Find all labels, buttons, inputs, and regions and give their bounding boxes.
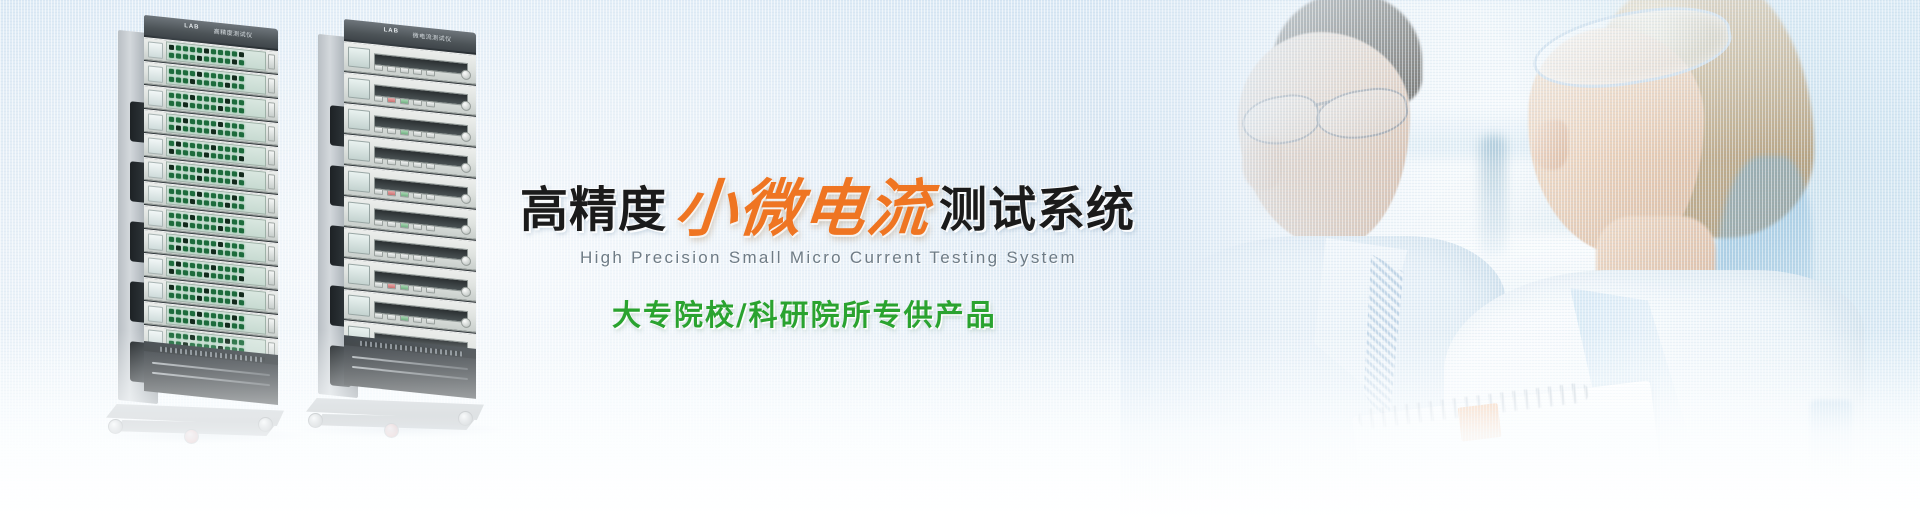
rack-1-channel-led bbox=[239, 108, 244, 114]
rack-2-unit-button bbox=[387, 159, 396, 166]
rack-1-channel-led bbox=[183, 222, 188, 228]
rack-1-channel-led bbox=[176, 173, 181, 179]
subtitle-english: High Precision Small Micro Current Testi… bbox=[580, 248, 1077, 268]
rack-1-unit-display bbox=[148, 41, 163, 59]
rack-1-channel-led bbox=[225, 267, 230, 273]
rack-2-unit-column bbox=[344, 39, 476, 349]
rack-1-channel-led bbox=[225, 99, 230, 105]
rack-1-channel-led bbox=[183, 102, 188, 108]
rack-1-channel-led bbox=[176, 214, 181, 220]
rack-1-channel-led bbox=[183, 174, 188, 180]
rack-1-channel-led bbox=[197, 199, 202, 205]
rack-1-channel-led bbox=[176, 70, 181, 76]
rack-2-unit-dial bbox=[461, 100, 471, 111]
rack-1-channel-led bbox=[211, 121, 216, 127]
rack-1-channel-led bbox=[183, 286, 188, 292]
rack-2-unit-button bbox=[413, 285, 422, 292]
rack-2-unit-button bbox=[387, 314, 396, 321]
rack-1-channel-led bbox=[204, 49, 209, 55]
rack-1-channel-led bbox=[232, 299, 237, 305]
rack-1-channel-led bbox=[204, 289, 209, 295]
rack-1-channel-led bbox=[197, 103, 202, 109]
rack-1-channel-led bbox=[239, 292, 244, 298]
rack-1-channel-led bbox=[204, 200, 209, 206]
rack-1-channel-led bbox=[197, 79, 202, 85]
rack-1-channel-led bbox=[176, 94, 181, 100]
rack-1-channel-led bbox=[190, 127, 195, 133]
rack-1-channel-led bbox=[204, 337, 209, 343]
rack-1-channel-led bbox=[204, 128, 209, 134]
rack-1-channel-led bbox=[169, 261, 174, 267]
rack-1-channel-led bbox=[197, 72, 202, 78]
rack-2-unit-button bbox=[374, 126, 383, 133]
rack-1-channel-led bbox=[211, 49, 216, 55]
rack-1-unit-knob bbox=[268, 150, 275, 166]
rack-2-unit-lcd bbox=[348, 201, 370, 223]
rack-2-unit-dial bbox=[461, 255, 471, 266]
rack-1-channel-led bbox=[204, 193, 209, 199]
rack-1-channel-led bbox=[176, 190, 181, 196]
rack-1-channel-led bbox=[204, 176, 209, 182]
rack-1-channel-led bbox=[197, 55, 202, 61]
rack-1-channel-led bbox=[218, 146, 223, 152]
rack-2-unit-lcd bbox=[348, 108, 370, 130]
rack-1-channel-led bbox=[169, 316, 174, 322]
rack-2-unit-button bbox=[387, 221, 396, 228]
rack-1-channel-led bbox=[218, 266, 223, 272]
rack-1-channel-led bbox=[225, 154, 230, 160]
rack-1-channel-led bbox=[169, 117, 174, 123]
rack-1-channel-led bbox=[183, 190, 188, 196]
rack-2-unit-button bbox=[387, 128, 396, 135]
rack-2-unit-dial bbox=[461, 69, 471, 80]
rack-1-channel-led bbox=[239, 276, 244, 282]
rack-1-channel-led bbox=[169, 285, 174, 291]
rack-1-channel-led bbox=[211, 249, 216, 255]
rack-1-channel-led bbox=[183, 318, 188, 324]
rack-1-channel-led bbox=[204, 56, 209, 62]
rack-1-channel-led bbox=[225, 106, 230, 112]
rack-1-channel-led bbox=[169, 45, 174, 51]
rack-1-channel-led bbox=[176, 101, 181, 107]
rack-1-channel-led bbox=[190, 247, 195, 253]
rack-1-unit-display bbox=[148, 137, 163, 155]
rack-1-channel-led bbox=[176, 245, 181, 251]
rack-1-channel-led bbox=[218, 242, 223, 248]
rack-1-channel-led bbox=[218, 177, 223, 183]
rack-1-channel-led bbox=[211, 169, 216, 175]
rack-1-channel-led bbox=[232, 291, 237, 297]
rack-2-unit-lcd bbox=[348, 170, 370, 192]
rack-1-channel-led bbox=[169, 189, 174, 195]
rack-1-channel-led bbox=[183, 126, 188, 132]
rack-1-channel-led bbox=[218, 74, 223, 80]
rack-2-unit-lcd bbox=[348, 139, 370, 161]
rack-1-channel-led bbox=[232, 275, 237, 281]
rack-2-brand: 微电流测试仪 bbox=[413, 30, 452, 43]
rack-1-unit-knob bbox=[268, 174, 275, 190]
rack-2-unit-button bbox=[374, 250, 383, 257]
rack-2-unit-button bbox=[400, 315, 409, 322]
rack-1-channel-led bbox=[190, 191, 195, 197]
rack-1-channel-led bbox=[218, 290, 223, 296]
rack-1-channel-led bbox=[225, 250, 230, 256]
rack-1-channel-led bbox=[211, 193, 216, 199]
rack-1-channel-led bbox=[211, 57, 216, 63]
rack-2-unit-button bbox=[426, 101, 435, 108]
rack-1-channel-led bbox=[225, 339, 230, 345]
rack-2-unit-button bbox=[374, 188, 383, 195]
rack-1-channel-led bbox=[232, 339, 237, 345]
rack-1-channel-led bbox=[239, 132, 244, 138]
rack-2-unit-dial bbox=[461, 162, 471, 173]
rack-2-unit-button bbox=[374, 157, 383, 164]
rack-2-unit-button bbox=[374, 281, 383, 288]
rack-1-channel-led bbox=[176, 53, 181, 59]
rack-1-channel-led bbox=[176, 334, 181, 340]
rack-1-channel-led bbox=[218, 170, 223, 176]
rack-1-channel-led bbox=[225, 202, 230, 208]
rack-1-channel-led bbox=[204, 217, 209, 223]
rack-1-channel-led bbox=[211, 145, 216, 151]
rack-1-channel-led bbox=[190, 239, 195, 245]
rack-2-unit-dial bbox=[461, 193, 471, 204]
rack-1-channel-led bbox=[232, 83, 237, 89]
rack-1-channel-led bbox=[197, 120, 202, 126]
rack-1-unit-knob bbox=[268, 318, 275, 334]
rack-1-unit-column bbox=[144, 35, 278, 355]
rack-1-channel-led bbox=[197, 151, 202, 157]
rack-1-channel-led bbox=[225, 130, 230, 136]
rack-1-channel-led bbox=[225, 82, 230, 88]
rack-1-unit-knob bbox=[268, 222, 275, 238]
rack-1-channel-led bbox=[232, 171, 237, 177]
rack-1-channel-led bbox=[239, 228, 244, 234]
rack-1-brand: 高精度测试仪 bbox=[214, 26, 253, 39]
rack-1-channel-led bbox=[225, 58, 230, 64]
rack-2-unit-lcd bbox=[348, 263, 370, 285]
rack-1-channel-led bbox=[197, 144, 202, 150]
rack-1-channel-led bbox=[204, 73, 209, 79]
rack-1-channel-led bbox=[211, 177, 216, 183]
rack-1-channel-led bbox=[239, 340, 244, 346]
rack-1-channel-led bbox=[204, 272, 209, 278]
rack-1-channel-led bbox=[183, 294, 188, 300]
rack-2-unit-button bbox=[387, 66, 396, 73]
rack-1-channel-led bbox=[239, 268, 244, 274]
rack-1-channel-led bbox=[225, 123, 230, 129]
rack-1-channel-led bbox=[211, 129, 216, 135]
rack-1-channel-led bbox=[239, 60, 244, 66]
multi-channel-current-test-rack: LAB 高精度测试仪 bbox=[118, 22, 278, 392]
rack-2-unit-lcd bbox=[348, 294, 370, 316]
rack-1-channel-led bbox=[239, 124, 244, 130]
rack-1-channel-led bbox=[232, 243, 237, 249]
rack-1-channel-led bbox=[190, 119, 195, 125]
rack-1-channel-led bbox=[190, 295, 195, 301]
rack-1-channel-led bbox=[239, 316, 244, 322]
rack-1-channel-led bbox=[197, 312, 202, 318]
rack-1-unit-knob bbox=[268, 270, 275, 286]
rack-1-channel-led bbox=[232, 51, 237, 57]
rack-1-channel-led bbox=[239, 100, 244, 106]
rack-1-channel-led bbox=[169, 69, 174, 75]
rack-1-channel-led bbox=[211, 289, 216, 295]
rack-1-channel-led bbox=[211, 241, 216, 247]
rack-1-channel-led bbox=[190, 223, 195, 229]
rack-1-channel-led bbox=[232, 315, 237, 321]
rack-1-channel-led bbox=[204, 265, 209, 271]
rack-1-channel-led bbox=[169, 52, 174, 58]
rack-1-channel-led bbox=[225, 219, 230, 225]
rack-1-unit-knob bbox=[268, 294, 275, 310]
rack-1-channel-led bbox=[183, 246, 188, 252]
rack-1-unit-knob bbox=[268, 102, 275, 118]
rack-2-unit-button bbox=[400, 284, 409, 291]
rack-2-unit-button bbox=[413, 130, 422, 137]
rack-1-channel-led bbox=[190, 103, 195, 109]
rack-1-channel-led bbox=[176, 286, 181, 292]
rack-1-channel-led bbox=[232, 59, 237, 65]
rack-1-channel-led bbox=[190, 287, 195, 293]
rack-1-channel-led bbox=[218, 129, 223, 135]
rack-1-channel-led bbox=[169, 309, 174, 315]
rack-1-channel-led bbox=[232, 179, 237, 185]
rack-1-unit-knob bbox=[268, 246, 275, 262]
rack-1-channel-led bbox=[239, 244, 244, 250]
rack-1-channel-led bbox=[204, 248, 209, 254]
rack-1-channel-led bbox=[176, 125, 181, 131]
rack-1-channel-led bbox=[190, 71, 195, 77]
rack-2-unit-dial bbox=[461, 317, 471, 328]
photo-grid-texture bbox=[1120, 0, 1920, 520]
headline: 高精度 小微电流 测试系统 bbox=[520, 170, 1140, 240]
rack-1-channel-led bbox=[204, 152, 209, 158]
rack-1-channel-led bbox=[204, 296, 209, 302]
rack-1-channel-led bbox=[197, 288, 202, 294]
rack-2-unit-button bbox=[413, 99, 422, 106]
rack-1-unit-display bbox=[148, 257, 163, 275]
rack-2-unit-button bbox=[426, 194, 435, 201]
rack-1-channel-led bbox=[232, 147, 237, 153]
rack-1-channel-led bbox=[190, 319, 195, 325]
rack-1-channel-led bbox=[232, 219, 237, 225]
lab-researchers-photo bbox=[1120, 0, 1920, 520]
rack-1-channel-led bbox=[176, 166, 181, 172]
rack-2-unit-lcd bbox=[348, 232, 370, 254]
rack-1-channel-led bbox=[218, 153, 223, 159]
rack-2-unit-button bbox=[426, 132, 435, 139]
rack-2-unit-button bbox=[387, 252, 396, 259]
rack-1-channel-led bbox=[190, 199, 195, 205]
rack-1-channel-led bbox=[190, 263, 195, 269]
rack-1-channel-led bbox=[225, 291, 230, 297]
rack-1-channel-led bbox=[211, 297, 216, 303]
rack-1-channel-led bbox=[232, 251, 237, 257]
rack-1-channel-led bbox=[239, 252, 244, 258]
rack-1-channel-led bbox=[197, 240, 202, 246]
rack-1-channel-led bbox=[190, 167, 195, 173]
rack-1-channel-led bbox=[218, 105, 223, 111]
rack-1-channel-led bbox=[183, 238, 188, 244]
rack-1-channel-led bbox=[197, 271, 202, 277]
rack-1-channel-led bbox=[225, 298, 230, 304]
rack-1-channel-led bbox=[176, 118, 181, 124]
rack-1-channel-led bbox=[204, 169, 209, 175]
rack-1-channel-led bbox=[169, 141, 174, 147]
instrument-module-rack: LAB 微电流测试仪 bbox=[318, 26, 476, 386]
rack-2-unit-dial bbox=[461, 224, 471, 235]
rack-1-channel-led bbox=[218, 201, 223, 207]
rack-1-channel-led bbox=[176, 142, 181, 148]
rack-2-unit-button bbox=[400, 67, 409, 74]
rack-1-channel-led bbox=[176, 238, 181, 244]
rack-1-channel-led bbox=[183, 54, 188, 60]
rack-1-channel-led bbox=[176, 46, 181, 52]
rack-2-floor-shadow bbox=[298, 422, 508, 438]
rack-2-unit-lcd bbox=[348, 77, 370, 99]
rack-1-channel-led bbox=[197, 168, 202, 174]
rack-2-unit-lcd bbox=[348, 46, 370, 68]
rack-1-channel-led bbox=[169, 172, 174, 178]
rack-1-channel-led bbox=[169, 93, 174, 99]
rack-2-unit-button bbox=[426, 287, 435, 294]
rack-1-channel-led bbox=[169, 292, 174, 298]
rack-2-unit-button bbox=[426, 163, 435, 170]
rack-1-channel-led bbox=[176, 197, 181, 203]
rack-1-channel-led bbox=[190, 95, 195, 101]
rack-1-channel-led bbox=[211, 201, 216, 207]
rack-1-channel-led bbox=[232, 267, 237, 273]
rack-1-channel-led bbox=[169, 76, 174, 82]
rack-1-unit-display bbox=[148, 65, 163, 83]
rack-1-unit-knob bbox=[268, 198, 275, 214]
rack-2-unit-button bbox=[426, 70, 435, 77]
rack-1-channel-led bbox=[239, 180, 244, 186]
rack-1-channel-led bbox=[197, 48, 202, 54]
rack-1-channel-led bbox=[183, 142, 188, 148]
rack-1-channel-led bbox=[176, 77, 181, 83]
rack-1-channel-led bbox=[176, 310, 181, 316]
rack-1-channel-led bbox=[183, 150, 188, 156]
rack-1-channel-led bbox=[218, 273, 223, 279]
rack-1-channel-led bbox=[183, 46, 188, 52]
rack-1-channel-led bbox=[225, 147, 230, 153]
rack-1-channel-led bbox=[225, 195, 230, 201]
rack-1-channel-led bbox=[239, 324, 244, 330]
rack-1-channel-led bbox=[232, 195, 237, 201]
rack-2-unit-button bbox=[413, 223, 422, 230]
rack-1-channel-led bbox=[169, 220, 174, 226]
rack-1-channel-led bbox=[225, 75, 230, 81]
rack-1-unit-display bbox=[148, 305, 163, 323]
rack-1-channel-led bbox=[169, 213, 174, 219]
rack-1-channel-led bbox=[239, 220, 244, 226]
rack-1-channel-led bbox=[239, 84, 244, 90]
rack-1-channel-led bbox=[232, 155, 237, 161]
rack-2-unit-button bbox=[426, 256, 435, 263]
rack-1-channel-led bbox=[239, 196, 244, 202]
rack-1-channel-led bbox=[190, 215, 195, 221]
rack-1-channel-led bbox=[218, 338, 223, 344]
rack-1-channel-led bbox=[218, 249, 223, 255]
rack-1-channel-led bbox=[232, 99, 237, 105]
rack-1-channel-led bbox=[218, 218, 223, 224]
rack-1-channel-led bbox=[225, 178, 230, 184]
rack-2-unit-button bbox=[426, 225, 435, 232]
rack-1-channel-led bbox=[225, 322, 230, 328]
rack-1-channel-led bbox=[211, 73, 216, 79]
rack-1-unit-display bbox=[148, 209, 163, 227]
rack-2-unit-dial bbox=[461, 131, 471, 142]
rack-1-channel-led bbox=[183, 214, 188, 220]
rack-1-channel-led bbox=[232, 131, 237, 137]
rack-1-channel-led bbox=[169, 196, 174, 202]
rack-1-channel-led bbox=[204, 104, 209, 110]
rack-1-channel-led bbox=[211, 225, 216, 231]
rack-2-unit-button bbox=[413, 192, 422, 199]
rack-1-channel-led bbox=[211, 153, 216, 159]
rack-1-channel-led bbox=[204, 313, 209, 319]
rack-2-unit-button bbox=[413, 68, 422, 75]
rack-1-channel-led bbox=[183, 262, 188, 268]
rack-2-unit-button bbox=[400, 98, 409, 105]
rack-1-channel-led bbox=[204, 80, 209, 86]
rack-1-channel-led bbox=[232, 227, 237, 233]
rack-1-unit-display bbox=[148, 89, 163, 107]
rack-1-channel-led bbox=[239, 148, 244, 154]
rack-1-channel-led bbox=[169, 124, 174, 130]
rack-2-unit-button bbox=[400, 191, 409, 198]
rack-1-channel-led bbox=[218, 81, 223, 87]
rack-1-channel-led bbox=[204, 241, 209, 247]
rack-1-channel-led bbox=[169, 244, 174, 250]
rack-1-unit-display bbox=[148, 233, 163, 251]
rack-1-channel-led bbox=[197, 127, 202, 133]
rack-1-channel-led bbox=[239, 300, 244, 306]
rack-2-unit-button bbox=[374, 312, 383, 319]
rack-1-channel-led bbox=[211, 265, 216, 271]
rack-1-channel-led bbox=[232, 123, 237, 129]
rack-1-channel-led bbox=[169, 268, 174, 274]
rack-1-channel-led bbox=[183, 198, 188, 204]
rack-2-unit-button bbox=[387, 283, 396, 290]
rack-1-channel-led bbox=[183, 334, 188, 340]
rack-1-channel-led bbox=[197, 264, 202, 270]
headline-prefix: 高精度 bbox=[520, 170, 667, 240]
rack-2-unit-dial bbox=[461, 286, 471, 297]
rack-2-unit-button bbox=[400, 160, 409, 167]
rack-2-unit-button bbox=[413, 161, 422, 168]
rack-1-unit-display bbox=[148, 185, 163, 203]
rack-1-channel-led bbox=[197, 295, 202, 301]
rack-1-channel-led bbox=[169, 100, 174, 106]
rack-1-channel-led bbox=[169, 148, 174, 154]
rack-1-channel-led bbox=[239, 204, 244, 210]
rack-2-unit-button bbox=[400, 253, 409, 260]
rack-1-channel-led bbox=[232, 75, 237, 81]
rack-1-channel-led bbox=[190, 55, 195, 61]
rack-1-channel-led bbox=[197, 96, 202, 102]
rack-1-channel-led bbox=[183, 78, 188, 84]
rack-1-channel-led bbox=[225, 226, 230, 232]
rack-1-channel-led bbox=[211, 217, 216, 223]
rack-1-unit-knob bbox=[268, 126, 275, 142]
rack-2-unit-button bbox=[413, 254, 422, 261]
rack-1-channel-led bbox=[225, 171, 230, 177]
rack-2-unit-button bbox=[426, 318, 435, 325]
rack-1-channel-led bbox=[239, 172, 244, 178]
